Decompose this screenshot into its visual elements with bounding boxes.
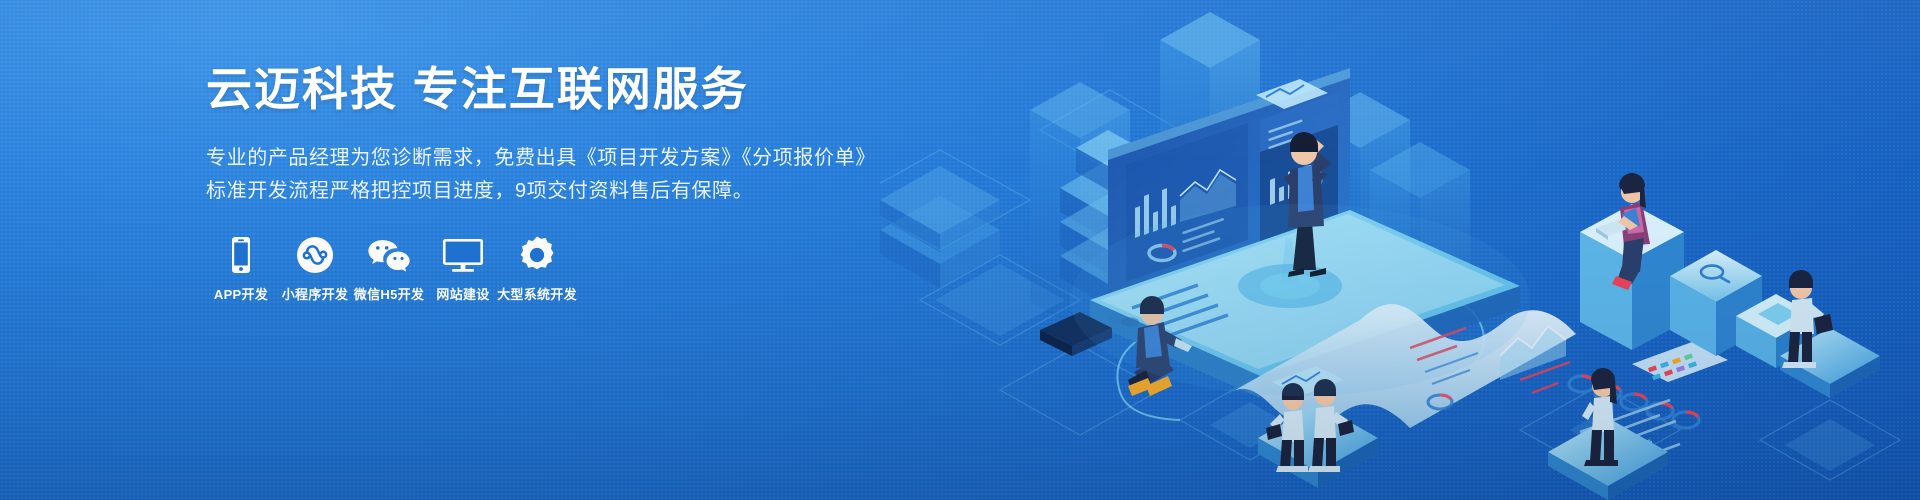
gear-icon bbox=[514, 232, 560, 278]
service-label-system: 大型系统开发 bbox=[497, 287, 577, 303]
hero-banner: 云迈科技 专注互联网服务 专业的产品经理为您诊断需求，免费出具《项目开发方案》《… bbox=[0, 0, 1920, 500]
service-item-system[interactable]: 大型系统开发 bbox=[500, 232, 574, 303]
subtitle-line-1: 专业的产品经理为您诊断需求，免费出具《项目开发方案》《分项报价单》 bbox=[206, 142, 906, 175]
page-title: 云迈科技 专注互联网服务 bbox=[206, 62, 906, 116]
service-icon-row: APP开发 小程序开发 bbox=[204, 232, 574, 303]
service-item-wechat-h5[interactable]: 微信H5开发 bbox=[352, 232, 426, 303]
monitor-icon bbox=[440, 232, 486, 278]
service-label-miniprogram: 小程序开发 bbox=[282, 287, 349, 303]
service-item-app[interactable]: APP开发 bbox=[204, 232, 278, 303]
subtitle-line-2: 标准开发流程严格把控项目进度，9项交付资料售后有保障。 bbox=[206, 175, 906, 208]
service-label-website: 网站建设 bbox=[436, 287, 489, 303]
wechat-icon bbox=[366, 232, 412, 278]
mini-program-icon bbox=[292, 232, 338, 278]
service-label-app: APP开发 bbox=[214, 287, 268, 303]
service-item-website[interactable]: 网站建设 bbox=[426, 232, 500, 303]
service-item-miniprogram[interactable]: 小程序开发 bbox=[278, 232, 352, 303]
mobile-phone-icon bbox=[218, 232, 264, 278]
banner-subtitle: 专业的产品经理为您诊断需求，免费出具《项目开发方案》《分项报价单》 标准开发流程… bbox=[206, 142, 906, 208]
banner-copy-block: 云迈科技 专注互联网服务 专业的产品经理为您诊断需求，免费出具《项目开发方案》《… bbox=[206, 62, 906, 234]
service-label-wechat-h5: 微信H5开发 bbox=[354, 287, 424, 303]
hero-illustration bbox=[880, 0, 1920, 500]
